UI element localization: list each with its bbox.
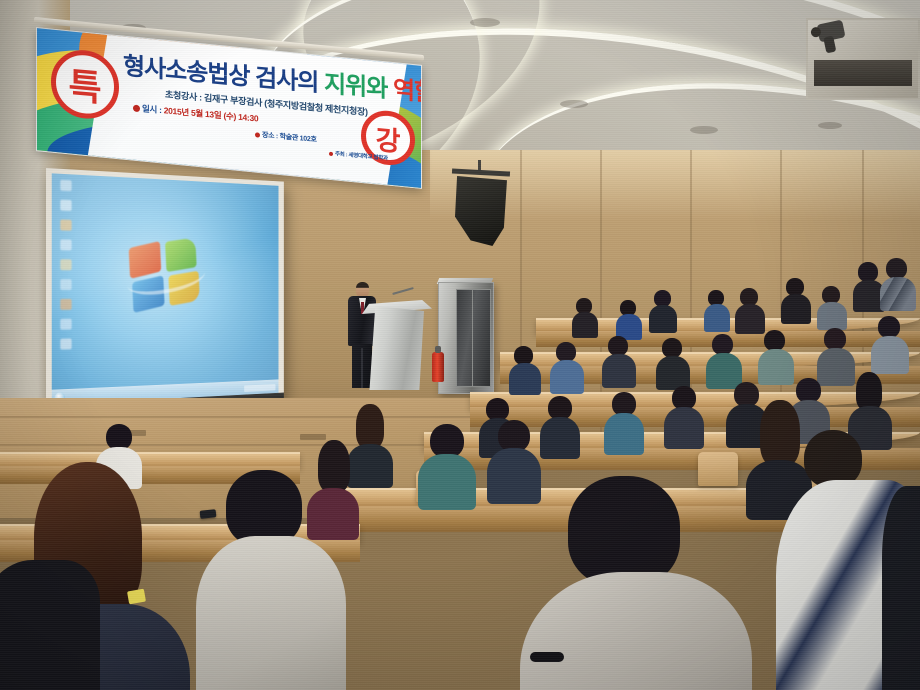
lectern	[366, 306, 424, 390]
banner-title-part3: 역할	[387, 76, 422, 107]
recycle-bin-icon[interactable]	[60, 279, 71, 290]
banner-date-label: 일시 :	[142, 103, 162, 115]
windows-logo-icon	[129, 240, 204, 313]
browser-icon[interactable]	[60, 219, 71, 230]
ceiling-vent-icon	[690, 126, 718, 134]
yellow-notepad[interactable]	[127, 589, 146, 605]
projection-screen	[46, 168, 284, 416]
bullet-icon	[133, 105, 140, 113]
banner-title-part2: 지위와	[324, 70, 387, 103]
smartphone-on-desk[interactable]	[200, 509, 217, 519]
floor-seam	[0, 444, 470, 446]
bullet-icon	[329, 151, 333, 155]
floor-seam	[0, 416, 470, 418]
lecture-hall-photo: 특 강 형사소송법상 검사의 지위와 역할 초청강사 : 김재구 부장검사 (청…	[0, 0, 920, 690]
desktop-icon-column	[56, 180, 77, 359]
folder-icon[interactable]	[60, 259, 71, 270]
text-document-icon[interactable]	[60, 200, 71, 211]
office-document-icon[interactable]	[60, 299, 71, 310]
projected-desktop	[52, 173, 279, 405]
ceiling-vent-icon	[560, 100, 588, 108]
fire-extinguisher-icon	[432, 352, 444, 382]
ceiling-vent-icon	[818, 122, 842, 129]
computer-icon[interactable]	[60, 180, 71, 191]
lecturer-head	[356, 282, 369, 297]
media-player-icon[interactable]	[60, 239, 71, 250]
bullet-icon	[255, 132, 260, 137]
rack-glass-door[interactable]	[456, 289, 491, 387]
chair[interactable]	[698, 452, 738, 486]
floor-vent-icon	[300, 434, 326, 440]
ceiling-vent-icon	[470, 18, 500, 27]
system-tray[interactable]	[244, 384, 275, 392]
utility-icon[interactable]	[60, 319, 71, 330]
lecturer-legs	[352, 344, 372, 388]
wristband	[530, 652, 564, 662]
archive-icon[interactable]	[60, 338, 71, 349]
av-equipment-rack	[438, 282, 494, 394]
